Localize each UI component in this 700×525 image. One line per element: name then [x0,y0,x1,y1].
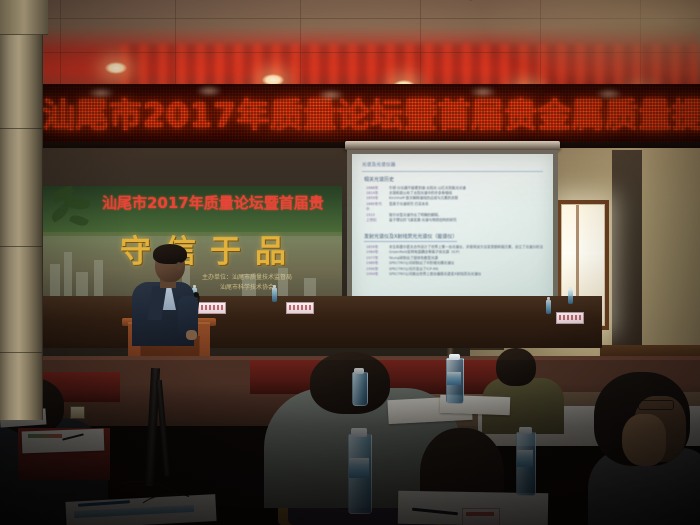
hall-column [0,0,43,420]
name-placard [198,302,226,314]
led-banner: 汕尾市2017年质量论坛暨首届贵金属质量提升与检测技术研 [0,84,700,146]
speaker-hand [186,330,197,340]
slide-row-text: 氢原子光谱研究·巴耳末系 [389,202,543,213]
downlight-icon [105,62,127,74]
conference-hall-photo: 汕尾市2017年质量论坛暨首届贵金属质量提升与检测技术研 [0,0,700,525]
presentation-slide: 光谱及光谱仪器 相关光谱历史 1666年 牛顿·分光器不能看到谱·太阳光·以红光… [352,154,553,309]
slide-row-text: SPECTRO公司推出世界上首台偏振光激发X射线荧光光谱仪 [389,272,543,277]
led-banner-text: 汕尾市2017年质量论坛暨首届贵金属质量提升与检测技术研 [42,99,700,132]
backdrop-slogan: 守信于品 [120,226,300,271]
backdrop-subtitle-left: 主办单位：汕尾市质量技术监督局 [202,272,292,281]
speaker-ear [176,262,182,270]
name-placard [556,312,584,324]
slide-row: 1994年 SPECTRO公司推出世界上首台偏振光激发X射线荧光光谱仪 [366,272,543,277]
slide-row-text: 量子理论的飞速发展·光谱与物质结构的研究 [389,218,543,223]
foreground-shadow [0,360,700,525]
slide-header: 光谱及光谱仪器 [362,162,543,168]
ceiling [0,0,700,96]
water-bottle [546,300,551,314]
slide-header-rule [362,171,543,172]
slide-row-year: 1994年 [366,272,384,277]
ceiling-warm-light [480,0,700,96]
slide-row-year: 1860年代中 [366,202,384,213]
backdrop-title: 汕尾市2017年质量论坛暨首届贵 [102,192,324,213]
projection-screen-housing [345,141,560,150]
slide-section1-title: 相关光谱历史 [364,176,543,183]
speaker-hair [153,244,187,264]
slide-row: 上世纪 量子理论的飞速发展·光谱与物质结构的研究 [366,218,543,223]
slide-section2-title: 发射光谱仪及X射线荧光光谱仪（能谱仪） [364,233,457,242]
backdrop-subtitle-right: 汕尾市科学技术协会 [220,282,274,291]
hall-column-capital [0,0,48,35]
slide-row-year: 上世纪 [366,218,384,223]
slide-row: 1860年代中 氢原子光谱研究·巴耳末系 [366,202,543,213]
backdrop-foliage [48,186,108,246]
projection-screen: 光谱及光谱仪器 相关光谱历史 1666年 牛顿·分光器不能看到谱·太阳光·以红光… [352,154,553,309]
water-bottle [272,288,277,302]
name-placard [286,302,314,314]
water-bottle [568,290,573,304]
wall-panel-center [612,150,642,346]
